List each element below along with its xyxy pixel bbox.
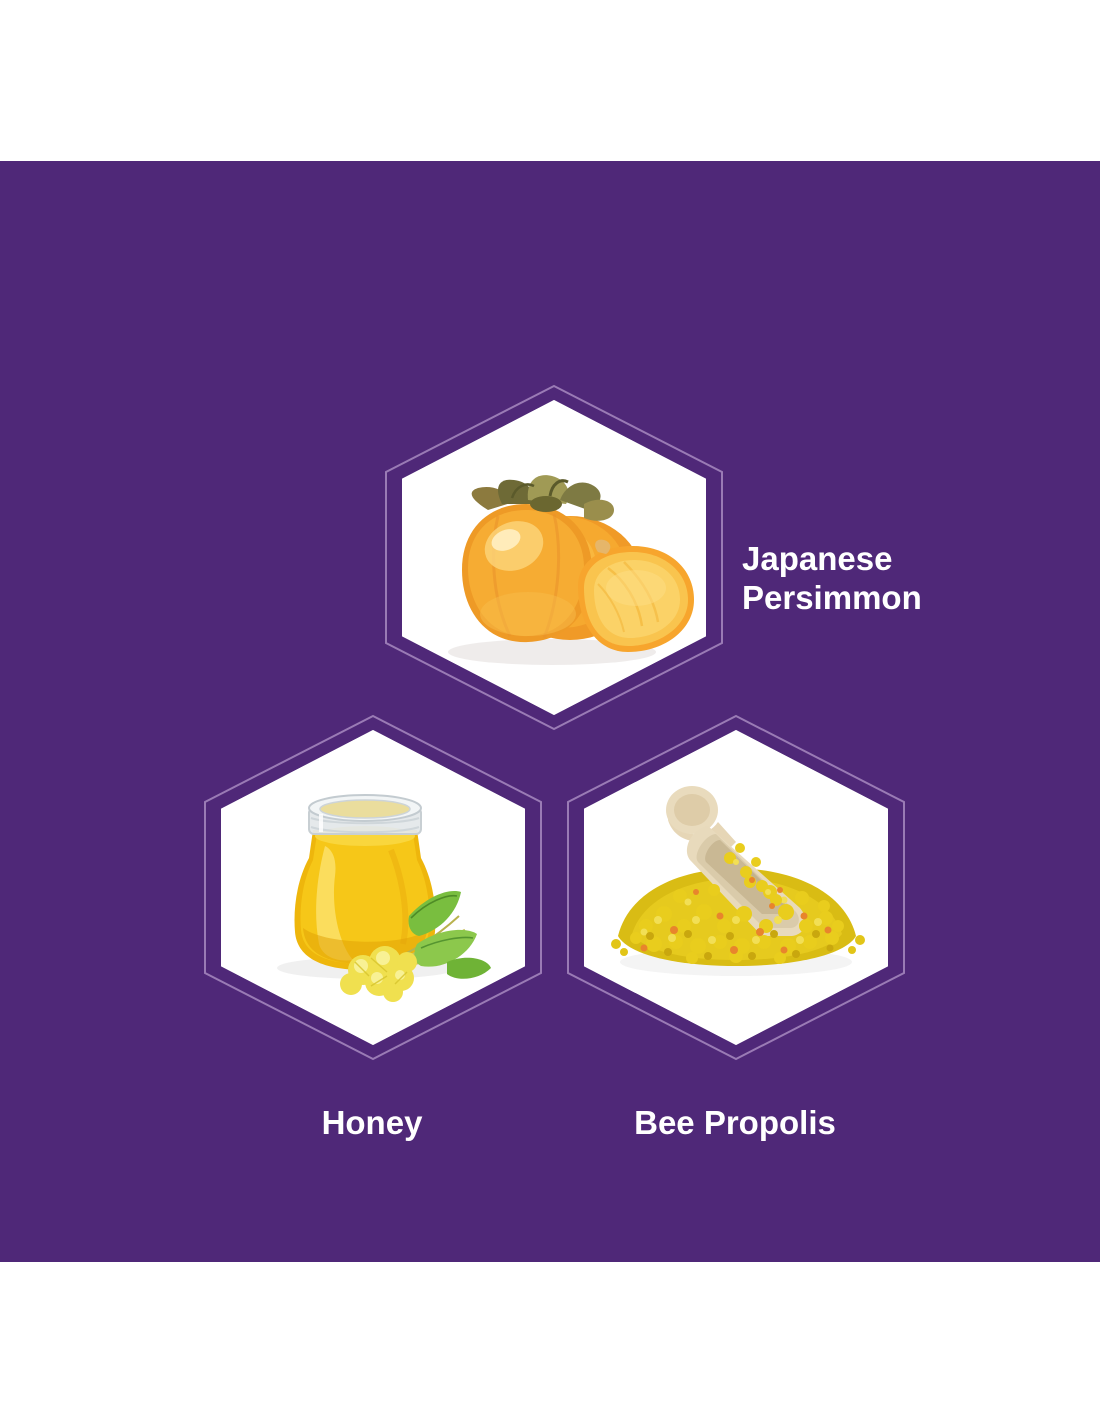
ingredients-infographic: KEY INGREDIENTS [0, 0, 1100, 1422]
ingredient-card-japanese-persimmon[interactable] [385, 385, 723, 730]
ingredient-label-japanese-persimmon: Japanese Persimmon [742, 540, 1042, 618]
page-title: KEY INGREDIENTS [39, 70, 1062, 140]
ingredient-label-line-2: Persimmon [742, 579, 1042, 618]
ingredient-card-bee-propolis[interactable] [567, 715, 905, 1060]
ingredient-card-honey[interactable] [204, 715, 542, 1060]
ingredient-label-line-1: Japanese [742, 540, 1042, 579]
ingredient-label-bee-propolis: Bee Propolis [585, 1104, 885, 1143]
ingredient-label-honey: Honey [222, 1104, 522, 1143]
